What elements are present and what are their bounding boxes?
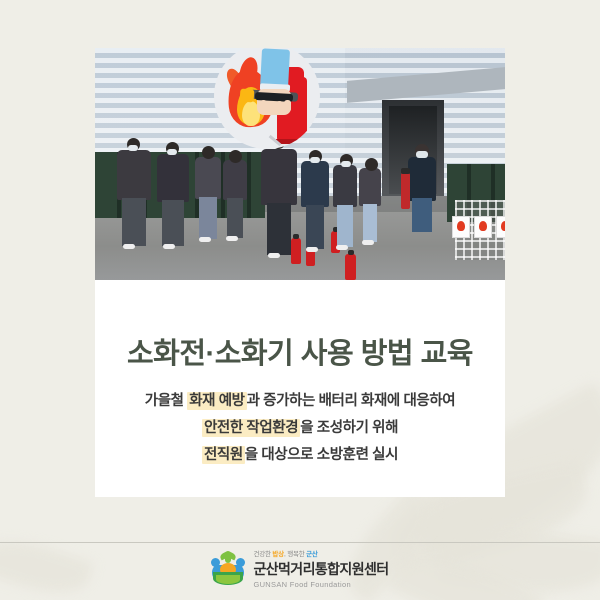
finger-shape	[268, 101, 275, 113]
page-background: 소화전·소화기 사용 방법 교육 가을철 화재 예방과 증가하는 배터리 화재에…	[0, 0, 600, 600]
page-title: 소화전·소화기 사용 방법 교육	[95, 330, 505, 372]
logo-name-english: GUNSAN Food Foundation	[253, 580, 388, 589]
logo-sprout-icon	[225, 551, 231, 563]
subtitle-text-post: 을 대상으로 소방훈련 실시	[245, 447, 398, 463]
photo-fire-poster	[452, 216, 470, 238]
photo-instructor-legs	[412, 198, 432, 232]
logo-tagline-part: 밥상	[272, 551, 284, 558]
subtitle-text-post: 을 조성하기 위해	[300, 420, 398, 436]
subtitle-text-post: 과 증가하는 배터리 화재에 대응하여	[247, 393, 456, 409]
logo-tagline-part: 건강한	[253, 551, 272, 558]
footer-logo: 건강한 밥상, 행복한 군산 군산먹거리통합지원센터 GUNSAN Food F…	[0, 546, 600, 590]
photo-instructor-extinguisher	[401, 173, 410, 209]
photo-instructor-body	[408, 157, 436, 201]
subtitle-text-pre: 가을철	[145, 393, 187, 409]
subtitle-block: 가을철 화재 예방과 증가하는 배터리 화재에 대응하여 안전한 작업환경을 조…	[95, 388, 505, 469]
logo-tagline-part: 행복한	[287, 551, 306, 558]
logo-text-block: 건강한 밥상, 행복한 군산 군산먹거리통합지원센터 GUNSAN Food F…	[253, 548, 388, 589]
footer-divider	[0, 542, 600, 543]
fire-extinguisher-icon	[214, 48, 320, 149]
subtitle-highlight: 전직원	[202, 446, 245, 464]
logo-name: 군산먹거리통합지원센터	[253, 559, 388, 579]
photo-extinguisher-top	[293, 234, 299, 239]
content-card: 소화전·소화기 사용 방법 교육 가을철 화재 예방과 증가하는 배터리 화재에…	[95, 48, 505, 497]
photo-fire-poster	[496, 216, 505, 238]
subtitle-highlight: 화재 예방	[187, 392, 246, 410]
icon-circle-background	[214, 48, 320, 149]
photo-extinguisher	[291, 238, 301, 264]
photo-extinguisher	[345, 254, 356, 280]
photo-fire-poster	[474, 216, 492, 238]
subtitle-highlight: 안전한 작업환경	[202, 419, 300, 437]
logo-figure-head-right	[236, 558, 245, 567]
photo-extinguisher-top	[348, 250, 354, 255]
photo-instructor-mask	[416, 151, 428, 158]
gunsan-food-foundation-logo-icon	[211, 551, 245, 585]
finger-shape	[260, 100, 267, 112]
logo-tagline-part: 군산	[306, 551, 318, 558]
subtitle-line: 전직원을 대상으로 소방훈련 실시	[95, 442, 505, 469]
logo-tagline: 건강한 밥상, 행복한 군산	[253, 548, 388, 558]
finger-shape	[284, 100, 291, 112]
subtitle-line: 안전한 작업환경을 조성하기 위해	[95, 415, 505, 442]
finger-shape	[276, 101, 283, 113]
photo-instructor-extinguisher-top	[401, 168, 410, 174]
subtitle-line: 가을철 화재 예방과 증가하는 배터리 화재에 대응하여	[95, 388, 505, 415]
extinguisher-nozzle	[240, 89, 255, 103]
